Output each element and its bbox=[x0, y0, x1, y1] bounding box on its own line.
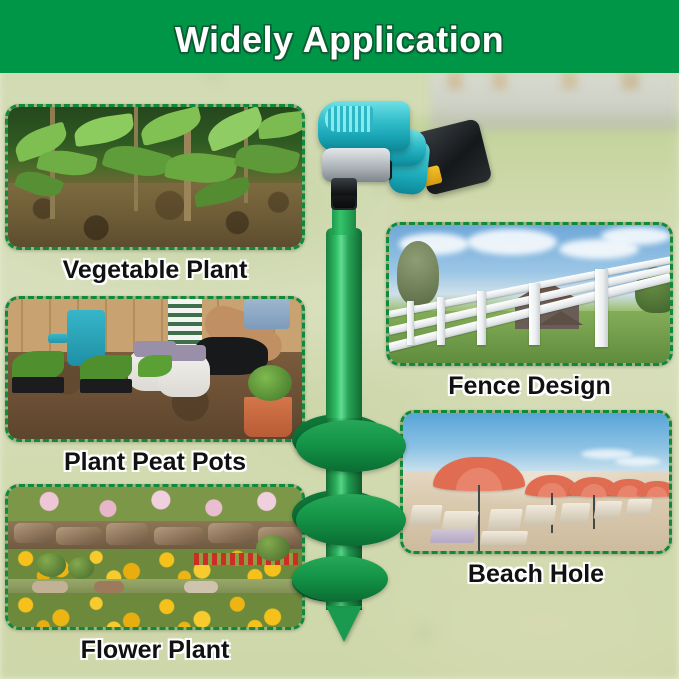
scene-fence-post bbox=[477, 291, 486, 345]
scene-lounge-chair bbox=[430, 529, 476, 543]
scene-umbrella-canopy bbox=[637, 481, 669, 497]
scene-fence-post bbox=[407, 301, 414, 345]
scene-pink-flower-band bbox=[8, 487, 302, 523]
scene-cloud bbox=[615, 457, 661, 466]
scene-potted-plant bbox=[248, 365, 292, 401]
scene-lounge-chair bbox=[626, 499, 653, 516]
scene-rock bbox=[154, 527, 204, 545]
scene-seedling bbox=[138, 355, 172, 377]
scene-cloud bbox=[601, 227, 670, 245]
scene-lounge-chair bbox=[559, 503, 591, 523]
scene-fence-post bbox=[595, 269, 608, 347]
scene-rock bbox=[32, 581, 68, 593]
photo-plant-peat-pots bbox=[8, 299, 302, 439]
scene-peat-pots bbox=[8, 299, 302, 439]
scene-terracotta-pot bbox=[244, 397, 292, 437]
card-vegetable-plant[interactable]: Vegetable Plant bbox=[5, 104, 305, 250]
infographic-stage: Widely Application bbox=[0, 0, 679, 679]
scene-leaf bbox=[257, 110, 302, 139]
caption-plant-peat-pots: Plant Peat Pots bbox=[5, 448, 305, 477]
scene-denim-shorts bbox=[244, 299, 290, 329]
scene-cloud bbox=[467, 229, 557, 255]
scene-umbrella bbox=[637, 481, 669, 497]
scene-beach bbox=[403, 413, 669, 551]
scene-leaf bbox=[72, 113, 135, 147]
scene-plastic-tray bbox=[12, 377, 64, 393]
scene-shrub bbox=[36, 553, 66, 577]
scene-rock bbox=[208, 523, 254, 543]
caption-flower-plant: Flower Plant bbox=[5, 636, 305, 665]
scene-shrub bbox=[256, 535, 290, 561]
card-fence-design[interactable]: Fence Design bbox=[386, 222, 673, 366]
photo-frame-fence-design bbox=[386, 222, 673, 366]
photo-frame-vegetable-plant bbox=[5, 104, 305, 250]
scene-rock bbox=[184, 581, 218, 593]
card-beach-hole[interactable]: Beach Hole bbox=[400, 410, 672, 554]
scene-bare-tree bbox=[397, 241, 439, 305]
scene-flower-garden bbox=[8, 487, 302, 627]
scene-fence-post bbox=[529, 283, 540, 345]
scene-rock bbox=[94, 581, 124, 593]
card-plant-peat-pots[interactable]: Plant Peat Pots bbox=[5, 296, 305, 442]
photo-frame-beach-hole bbox=[400, 410, 672, 554]
scene-marigold-band bbox=[8, 593, 302, 627]
photo-frame-plant-peat-pots bbox=[5, 296, 305, 442]
scene-leaf bbox=[138, 107, 204, 146]
scene-shrub bbox=[68, 557, 94, 579]
scene-lounge-chair bbox=[593, 501, 622, 519]
scene-lounge-chair bbox=[523, 505, 557, 525]
photo-card-layer: Vegetable Plant bbox=[0, 0, 679, 679]
card-flower-plant[interactable]: Flower Plant bbox=[5, 484, 305, 630]
scene-plastic-tray bbox=[80, 379, 132, 393]
caption-beach-hole: Beach Hole bbox=[400, 560, 672, 589]
caption-fence-design: Fence Design bbox=[386, 372, 673, 401]
photo-beach-hole bbox=[403, 413, 669, 551]
scene-rock bbox=[14, 523, 54, 543]
scene-lounge-chair bbox=[409, 505, 443, 525]
scene-fence-post bbox=[437, 297, 445, 345]
photo-frame-flower-plant bbox=[5, 484, 305, 630]
scene-lounge-chair bbox=[480, 531, 528, 545]
photo-flower-plant bbox=[8, 487, 302, 627]
scene-rock bbox=[106, 523, 148, 545]
scene-rock bbox=[56, 527, 102, 545]
scene-vinyl-fence bbox=[389, 225, 670, 363]
photo-vegetable-plant bbox=[8, 107, 302, 247]
scene-lounge-chair bbox=[487, 509, 523, 531]
photo-fence-design bbox=[389, 225, 670, 363]
caption-vegetable-plant: Vegetable Plant bbox=[5, 256, 305, 285]
scene-vegetable-garden bbox=[8, 107, 302, 247]
